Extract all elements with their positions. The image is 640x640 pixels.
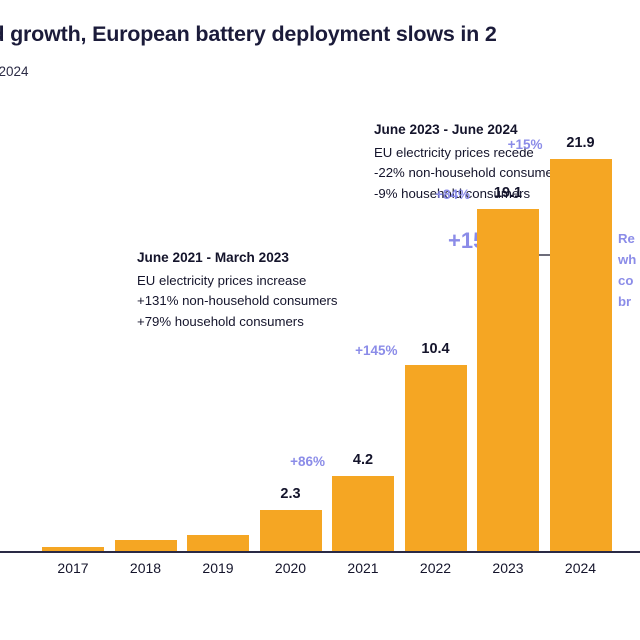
page-title: f rapid growth, European battery deploym…: [0, 22, 640, 47]
x-tick-2020: 2020: [251, 560, 331, 576]
x-tick-2019: 2019: [178, 560, 258, 576]
growth-label-2024: +15%: [463, 137, 543, 152]
x-tick-2022: 2022: [396, 560, 476, 576]
bar-value-2022: 10.4: [396, 341, 476, 357]
bar-value-2021: 4.2: [323, 452, 403, 468]
bar-2018[interactable]: [115, 540, 177, 551]
x-tick-2018: 2018: [106, 560, 186, 576]
bar-2023[interactable]: [477, 209, 539, 551]
bar-2021[interactable]: [332, 476, 394, 551]
x-tick-2024: 2024: [541, 560, 621, 576]
x-axis-line: [0, 551, 640, 553]
growth-label-2023: +84%: [390, 187, 470, 202]
bar-value-2024: 21.9: [541, 135, 621, 151]
bar-2020[interactable]: [260, 510, 322, 551]
x-tick-2017: 2017: [33, 560, 113, 576]
chart-canvas: f rapid growth, European battery deploym…: [0, 0, 640, 640]
x-tick-2023: 2023: [468, 560, 548, 576]
page-subtitle: city 2015-2024: [0, 64, 640, 79]
bar-value-2023: 19.1: [468, 185, 548, 201]
bar-2019[interactable]: [187, 535, 249, 551]
growth-label-2021: +86%: [245, 454, 325, 469]
bar-2024[interactable]: [550, 159, 612, 551]
growth-label-2022: +145%: [318, 343, 398, 358]
bar-value-2020: 2.3: [251, 486, 331, 502]
bar-2022[interactable]: [405, 365, 467, 551]
x-tick-2021: 2021: [323, 560, 403, 576]
plot-area: 2.34.2+86%10.4+145%19.1+84%21.9+15%: [0, 96, 640, 551]
